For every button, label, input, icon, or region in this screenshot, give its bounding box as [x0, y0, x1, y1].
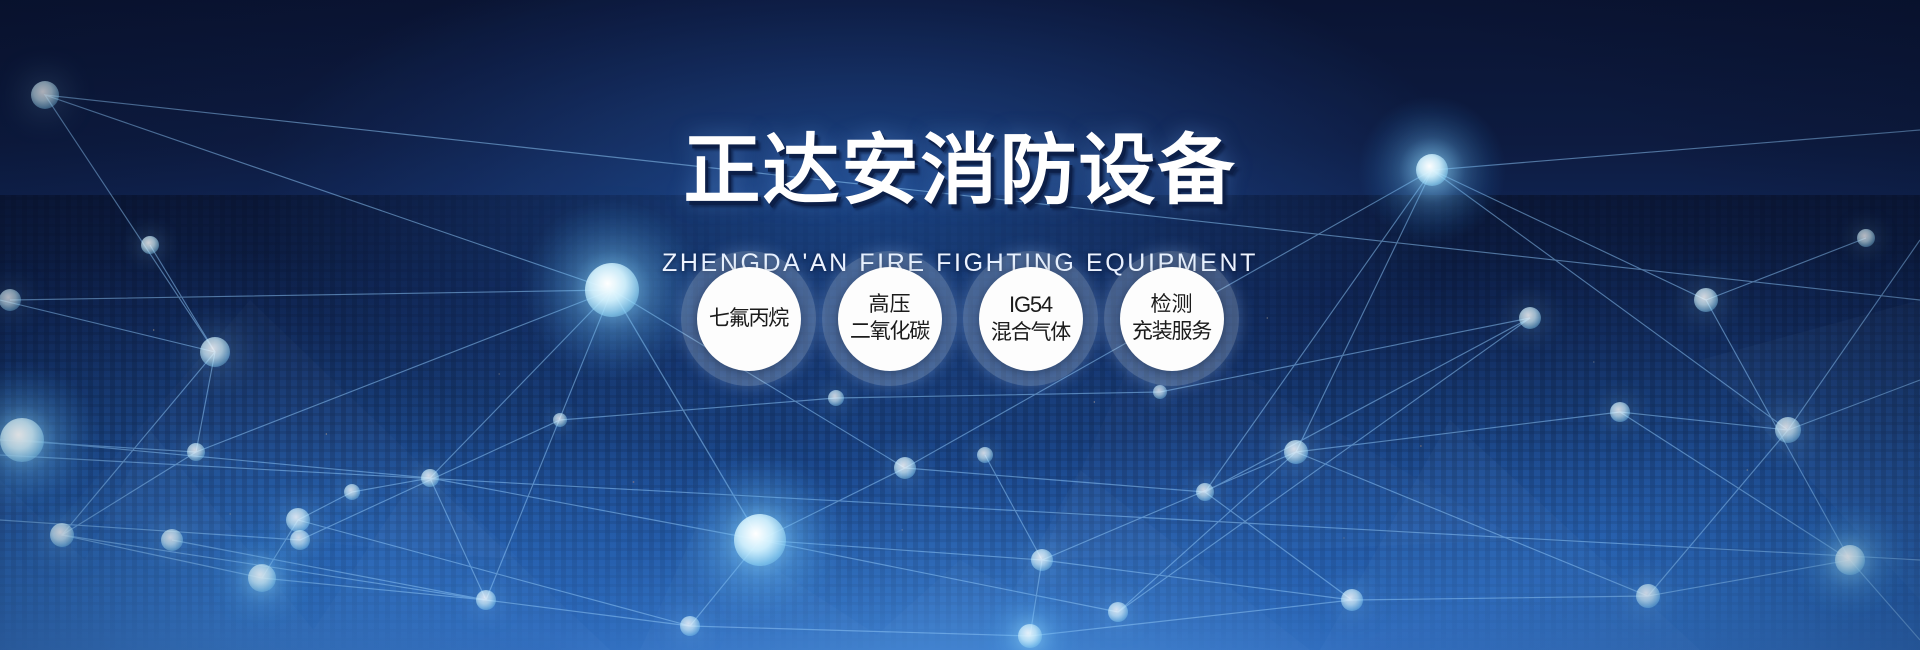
badge-circle[interactable]: 检测充装服务 — [1120, 267, 1224, 371]
badge-label: 二氧化碳 — [850, 321, 929, 343]
service-badge-high-pressure-co2[interactable]: 高压二氧化碳 — [829, 258, 950, 379]
badge-circle[interactable]: IG54混合气体 — [979, 267, 1083, 371]
badge-label: 七氟丙烷 — [709, 308, 788, 330]
page-title: 正达安消防设备 — [0, 133, 1920, 210]
service-badge-ig54-mixed-gas[interactable]: IG54混合气体 — [970, 258, 1091, 379]
service-badge-list: 七氟丙烷高压二氧化碳IG54混合气体检测充装服务 — [688, 258, 1232, 379]
badge-label: 充装服务 — [1132, 321, 1211, 343]
badge-label: 混合气体 — [991, 322, 1070, 344]
badge-label: IG54 — [1009, 294, 1052, 317]
badge-label: 高压 — [869, 294, 911, 316]
badge-circle[interactable]: 七氟丙烷 — [697, 267, 801, 371]
service-badge-testing-filling[interactable]: 检测充装服务 — [1111, 258, 1232, 379]
badge-circle[interactable]: 高压二氧化碳 — [838, 267, 942, 371]
badge-label: 检测 — [1151, 294, 1193, 316]
service-badge-heptafluoropropane[interactable]: 七氟丙烷 — [688, 258, 809, 379]
hero-banner: 正达安消防设备 ZHENGDA'AN FIRE FIGHTING EQUIPME… — [0, 0, 1920, 650]
